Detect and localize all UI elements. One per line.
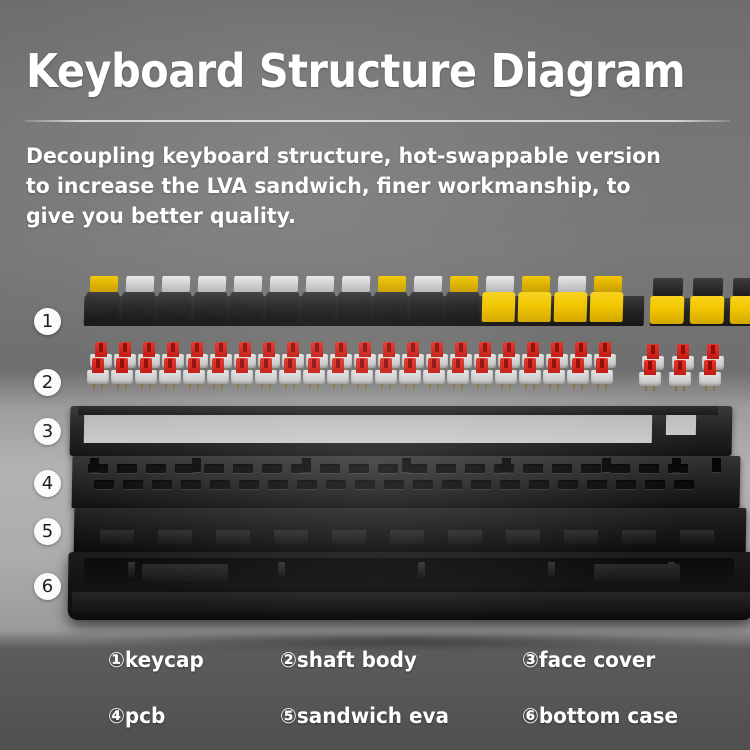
marker-3-face-cover: 3 — [34, 418, 61, 445]
keycap-rear — [126, 276, 155, 292]
keycap-rear — [90, 276, 119, 292]
switch-cross — [681, 345, 685, 354]
keycap-rear — [414, 276, 443, 292]
switch-front — [183, 354, 205, 384]
switch-cross — [528, 359, 532, 368]
keycap-cluster-front — [730, 296, 750, 324]
switch-front — [447, 354, 469, 384]
pcb-cutout — [587, 480, 607, 489]
switch-cross — [96, 359, 100, 368]
switch-cross — [144, 359, 148, 368]
switch-cross — [432, 359, 436, 368]
switch-cross — [579, 343, 583, 352]
pcb-cutout — [262, 464, 282, 473]
marker-6-bottom-case: 6 — [34, 573, 61, 600]
pcb-cutout — [523, 464, 543, 473]
pcb-cutout — [529, 480, 549, 489]
keycap-front — [518, 292, 552, 322]
switch-cross — [408, 359, 412, 368]
switch-cross — [384, 359, 388, 368]
sandwich-eva-rib — [390, 530, 424, 544]
switch-cross — [288, 359, 292, 368]
switch-cross — [531, 343, 535, 352]
switch-cross — [504, 359, 508, 368]
legend-shaft-body: ②shaft body — [280, 648, 417, 672]
pcb-cutout — [320, 464, 340, 473]
pcb-cutout — [436, 464, 456, 473]
switch-cross — [336, 359, 340, 368]
switch-cross — [216, 359, 220, 368]
pcb-cutout — [117, 464, 137, 473]
switch-front — [399, 354, 421, 384]
keycap-cluster-front — [690, 296, 725, 324]
marker-label: 4 — [42, 473, 53, 494]
marker-4-pcb: 4 — [34, 470, 61, 497]
pcb-cutout — [500, 480, 520, 489]
sandwich-eva-rib — [506, 530, 540, 544]
switch-cross — [267, 343, 271, 352]
bottom-case-foam-pad — [594, 564, 680, 582]
switch-cross — [435, 343, 439, 352]
keycap-rear — [558, 276, 587, 292]
switch-cross — [339, 343, 343, 352]
switch-cross — [456, 359, 460, 368]
pcb-cutout — [610, 464, 630, 473]
switch-cross — [315, 343, 319, 352]
pcb-cutout — [146, 464, 166, 473]
pcb-cutout — [152, 480, 172, 489]
switch-cross — [507, 343, 511, 352]
switch-cross — [555, 343, 559, 352]
keycap-front — [446, 292, 480, 322]
keycap-rear — [486, 276, 515, 292]
pcb-cutout — [181, 480, 201, 489]
bottom-case-standoff — [548, 562, 555, 578]
layer-sandwich-eva — [74, 508, 746, 556]
switch-cross — [123, 343, 127, 352]
switch-cross — [459, 343, 463, 352]
keycap-rear — [594, 276, 623, 292]
switch-front — [159, 354, 181, 384]
legend-sandwich-eva: ⑤sandwich eva — [280, 704, 449, 728]
legend-pcb: ④pcb — [108, 704, 165, 728]
switch-cross — [708, 361, 712, 370]
marker-label: 5 — [42, 521, 53, 542]
switch-cross — [360, 359, 364, 368]
pcb-cutout — [204, 464, 224, 473]
switch-cross — [147, 343, 151, 352]
switch-front — [207, 354, 229, 384]
switch-front — [279, 354, 301, 384]
pcb-stabilizer — [602, 458, 611, 472]
switch-cross — [552, 359, 556, 368]
pcb-stabilizer — [502, 458, 511, 472]
keycap-front — [590, 292, 624, 322]
pcb-cutout — [465, 464, 485, 473]
switch-front — [327, 354, 349, 384]
title-divider — [25, 120, 730, 122]
keycap-rear — [162, 276, 191, 292]
sandwich-eva-rib — [274, 530, 308, 544]
legend-keycap: ①keycap — [108, 648, 204, 672]
page-subtitle: Decoupling keyboard structure, hot-swapp… — [26, 142, 682, 232]
pcb-cutout — [210, 480, 230, 489]
pcb-cutout — [326, 480, 346, 489]
switch-cross — [312, 359, 316, 368]
pcb-cutout — [581, 464, 601, 473]
sandwich-eva-rib — [216, 530, 250, 544]
sandwich-eva-rib — [100, 530, 134, 544]
pcb-stabilizer — [302, 458, 311, 472]
switch-cross — [192, 359, 196, 368]
pcb-cutout — [239, 480, 259, 489]
switch-front — [591, 354, 613, 384]
keycap-rear — [270, 276, 299, 292]
keycap-front — [302, 292, 336, 322]
switch-cross — [711, 345, 715, 354]
switch-cross — [240, 359, 244, 368]
switch-front — [87, 354, 109, 384]
marker-5-sandwich-eva: 5 — [34, 518, 61, 545]
sandwich-eva-rib — [332, 530, 366, 544]
switch-cross — [291, 343, 295, 352]
switch-front — [495, 354, 517, 384]
legend-face-cover: ③face cover — [522, 648, 655, 672]
pcb-stabilizer — [712, 458, 721, 472]
switch-cross — [168, 359, 172, 368]
switch-cross — [576, 359, 580, 368]
pcb-cutout — [558, 480, 578, 489]
keycap-front — [122, 292, 156, 322]
keycap-rear — [198, 276, 227, 292]
pcb-cutout — [297, 480, 317, 489]
layer-pcb — [72, 456, 740, 508]
keycap-cluster-rear — [693, 278, 724, 296]
switch-cross — [678, 361, 682, 370]
pcb-stabilizer — [672, 458, 681, 472]
sandwich-eva-rib — [448, 530, 482, 544]
switch-front — [423, 354, 445, 384]
switch-cross — [171, 343, 175, 352]
page-title: Keyboard Structure Diagram — [26, 44, 656, 98]
marker-label: 1 — [42, 311, 53, 332]
face-cover-top-edge — [78, 406, 718, 415]
switch-front — [351, 354, 373, 384]
keycap-rear — [306, 276, 335, 292]
pcb-stabilizer — [90, 458, 99, 472]
bottom-case-standoff — [418, 562, 425, 578]
switch-cross — [195, 343, 199, 352]
switch-front — [471, 354, 493, 384]
switch-front — [543, 354, 565, 384]
sandwich-eva-rib — [680, 530, 714, 544]
marker-1-keycap: 1 — [34, 308, 61, 335]
keycap-front — [230, 292, 264, 322]
legend: ①keycap②shaft body③face cover④pcb⑤sandwi… — [0, 636, 750, 750]
switch-front — [255, 354, 277, 384]
marker-label: 2 — [42, 372, 53, 393]
switch-cross — [648, 361, 652, 370]
sandwich-eva-rib — [158, 530, 192, 544]
pcb-cutout — [552, 464, 572, 473]
switch-cross — [219, 343, 223, 352]
keycap-cluster-rear — [653, 278, 684, 296]
switch-cross — [363, 343, 367, 352]
switch-cross — [387, 343, 391, 352]
switch-cross — [600, 359, 604, 368]
pcb-cutout — [268, 480, 288, 489]
marker-label: 6 — [42, 576, 53, 597]
keycap-cluster-rear — [733, 278, 750, 296]
switch-cluster-front — [669, 356, 691, 386]
switch-front — [375, 354, 397, 384]
keycap-front — [338, 292, 372, 322]
bottom-case-standoff — [278, 562, 285, 578]
switch-front — [231, 354, 253, 384]
pcb-cutout — [123, 480, 143, 489]
keycap-rear — [450, 276, 479, 292]
bottom-case-front-wall — [72, 592, 750, 620]
keycap-rear — [378, 276, 407, 292]
layer-face-cover — [70, 406, 732, 456]
pcb-stabilizer — [192, 458, 201, 472]
switch-cross — [651, 345, 655, 354]
switch-front — [303, 354, 325, 384]
switch-cross — [603, 343, 607, 352]
switch-cross — [480, 359, 484, 368]
switch-cross — [483, 343, 487, 352]
switch-front — [567, 354, 589, 384]
switch-cross — [411, 343, 415, 352]
keyboard-structure-diagram: Keyboard Structure Diagram Decoupling ke… — [0, 0, 750, 750]
switch-cross — [264, 359, 268, 368]
pcb-cutout — [413, 480, 433, 489]
pcb-stabilizer — [402, 458, 411, 472]
keycap-front — [266, 292, 300, 322]
layer-switches — [86, 338, 726, 396]
pcb-cutout — [639, 464, 659, 473]
pcb-cutout — [94, 480, 114, 489]
layer-keycaps — [84, 268, 726, 330]
pcb-cutout — [616, 480, 636, 489]
pcb-cutout — [674, 480, 694, 489]
keycap-front — [86, 292, 120, 322]
keycap-rear — [342, 276, 371, 292]
pcb-cutout — [384, 480, 404, 489]
sandwich-eva-rib — [564, 530, 598, 544]
face-cover-window — [84, 415, 652, 443]
marker-2-shaft-body: 2 — [34, 369, 61, 396]
switch-cluster-front — [639, 356, 661, 386]
keycap-front — [410, 292, 444, 322]
switch-cross — [243, 343, 247, 352]
keycap-rear — [234, 276, 263, 292]
pcb-cutout — [349, 464, 369, 473]
face-cover-window-right — [666, 415, 696, 435]
pcb-cutout — [355, 480, 375, 489]
pcb-cutout — [233, 464, 253, 473]
keycap-front — [374, 292, 408, 322]
keycap-cluster-front — [650, 296, 685, 324]
pcb-cutout — [378, 464, 398, 473]
keycap-front — [482, 292, 516, 322]
switch-cross — [99, 343, 103, 352]
legend-bottom-case: ⑥bottom case — [522, 704, 678, 728]
switch-front — [519, 354, 541, 384]
keycap-front — [194, 292, 228, 322]
switch-cluster-front — [699, 356, 721, 386]
marker-label: 3 — [42, 421, 53, 442]
switch-front — [135, 354, 157, 384]
sandwich-eva-rib — [622, 530, 656, 544]
pcb-cutout — [442, 480, 462, 489]
pcb-cutout — [645, 480, 665, 489]
switch-front — [111, 354, 133, 384]
switch-cross — [120, 359, 124, 368]
keycap-rear — [522, 276, 551, 292]
keycap-front — [158, 292, 192, 322]
pcb-cutout — [471, 480, 491, 489]
bottom-case-standoff — [128, 562, 135, 578]
bottom-case-foam-pad — [142, 564, 228, 582]
keycap-front — [554, 292, 588, 322]
layer-bottom-case — [68, 552, 750, 634]
